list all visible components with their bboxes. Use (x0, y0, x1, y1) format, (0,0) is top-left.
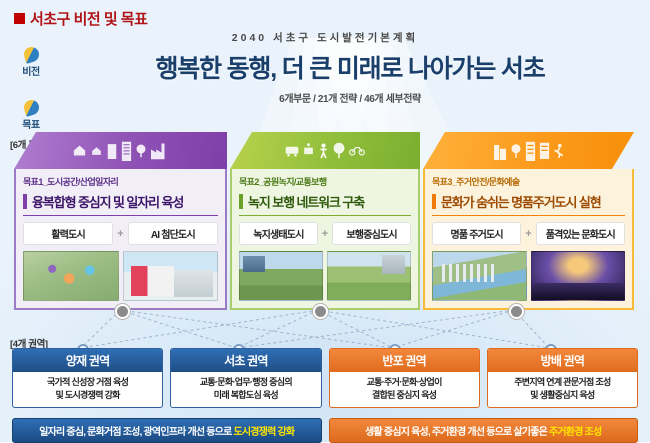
goal-2-connector-node (313, 304, 328, 319)
riverside-apartments-photo (432, 251, 527, 301)
goal-1-body: 목표1_도시공간/산업일자리 융복합형 중심지 및 일자리 육성 활력도시 + … (14, 169, 227, 310)
goal-1-headline: 융복합형 중심지 및 일자리 육성 (32, 192, 183, 211)
goal-3-headline-row: 문화가 숨쉬는 명품주거도시 실현 (432, 192, 625, 216)
goal-columns: 목표1_도시공간/산업일자리 융복합형 중심지 및 일자리 육성 활력도시 + … (14, 132, 638, 310)
aerial-plan-map-photo (23, 251, 119, 301)
factory-icon (150, 142, 170, 160)
footer-bars: 일자리 중심, 문화거점 조성, 광역인프라 개선 등으로 도시경쟁력 강화 생… (12, 418, 638, 443)
goal-column-1[interactable]: 목표1_도시공간/산업일자리 융복합형 중심지 및 일자리 육성 활력도시 + … (14, 132, 227, 310)
plus-icon: + (322, 228, 328, 240)
goal-3-category: 목표3_주거안전/문화예술 (432, 175, 625, 188)
zone-3-name: 반포 권역 (330, 349, 479, 372)
goal-badge-label: 목표 (22, 116, 39, 131)
pedestrian-icon (318, 143, 329, 159)
goal-3-body: 목표3_주거안전/문화예술 문화가 숨쉬는 명품주거도시 실현 명품 주거도시 … (423, 169, 634, 310)
footer-2-text: 생활 중심지 육성, 주거환경 개선 등으로 살기좋은 (365, 427, 549, 438)
goal-2-icon-band (230, 132, 420, 169)
goal-2-photos (239, 251, 411, 301)
goal-2-tag-2[interactable]: 보행중심도시 (332, 222, 411, 245)
vision-badge: 비전 (8, 47, 54, 78)
plan-subtitle: 2040 서초구 도시발전기본계획 (0, 30, 650, 45)
plus-icon: + (117, 228, 123, 240)
zone-1-line-2: 및 도시경쟁력 강화 (16, 389, 159, 402)
running-person-icon (553, 143, 565, 159)
goal-2-tags: 녹지생태도시 + 보행중심도시 (239, 222, 411, 245)
goal-2-tag-1[interactable]: 녹지생태도시 (239, 222, 318, 245)
footer-bar-competitiveness: 일자리 중심, 문화거점 조성, 광역인프라 개선 등으로 도시경쟁력 강화 (12, 418, 322, 443)
zone-1-name: 양재 권역 (13, 349, 162, 372)
zone-2-name: 서초 권역 (171, 349, 320, 372)
zone-4-line-2: 및 생활중심지 육성 (491, 389, 634, 402)
building-icon (493, 142, 507, 160)
zone-1-description: 국가적 신성장 거점 육성 및 도시경쟁력 강화 (13, 372, 162, 407)
zone-card-banpo[interactable]: 반포 권역 교통·주거·문화·상업이 결합된 중심지 육성 (329, 348, 480, 408)
tram-icon (302, 143, 315, 158)
goal-3-tag-1[interactable]: 명품 주거도시 (432, 222, 521, 245)
zone-card-seocho[interactable]: 서초 권역 교통·문화·업무·행정 중심의 미래 복합도심 육성 (170, 348, 321, 408)
vision-badge-label: 비전 (22, 63, 39, 78)
plus-icon: + (525, 228, 531, 240)
goal-1-photos (23, 251, 218, 301)
goal-3-tag-2[interactable]: 품격있는 문화도시 (536, 222, 625, 245)
zone-2-line-1: 교통·문화·업무·행정 중심의 (174, 376, 317, 389)
zone-4-name: 방배 권역 (488, 349, 637, 372)
tree-icon (332, 142, 346, 159)
zone-card-yangjae[interactable]: 양재 권역 국가적 신성장 거점 육성 및 도시경쟁력 강화 (12, 348, 163, 408)
house-icon (90, 144, 103, 157)
zone-2-line-2: 미래 복합도심 육성 (174, 389, 317, 402)
footer-1-highlight: 도시경쟁력 강화 (233, 427, 294, 438)
goal-2-headline-row: 녹지 보행 네트워크 구축 (239, 192, 411, 216)
zone-3-description: 교통·주거·문화·상업이 결합된 중심지 육성 (330, 372, 479, 407)
goal-2-body: 목표2_공원녹지/교통보행 녹지 보행 네트워크 구축 녹지생태도시 + 보행중… (230, 169, 420, 310)
urban-green-park-photo (239, 251, 323, 301)
apartment-icon (525, 141, 536, 161)
house-icon (72, 143, 87, 158)
goal-1-connector-node (115, 304, 130, 319)
vision-statement: 행복한 동행, 더 큰 미래로 나아가는 서초 (60, 56, 640, 84)
goal-2-headline: 녹지 보행 네트워크 구축 (248, 192, 364, 211)
zone-cards: 양재 권역 국가적 신성장 거점 육성 및 도시경쟁력 강화 서초 권역 교통·… (12, 348, 638, 408)
header-square-bullet-icon (14, 13, 25, 24)
outdoor-concert-photo (531, 251, 626, 301)
bus-icon (285, 145, 299, 157)
building-icon (106, 142, 118, 159)
goal-column-3[interactable]: 목표3_주거안전/문화예술 문화가 숨쉬는 명품주거도시 실현 명품 주거도시 … (423, 132, 634, 310)
zone-3-line-2: 결합된 중심지 육성 (333, 389, 476, 402)
goal-column-2[interactable]: 목표2_공원녹지/교통보행 녹지 보행 네트워크 구축 녹지생태도시 + 보행중… (230, 132, 420, 310)
goal-3-icon-band (423, 132, 634, 169)
goal-badge: 목표 (8, 100, 54, 131)
bicycle-icon (349, 145, 365, 156)
zone-card-bangbae[interactable]: 방배 권역 주변지역 연계 관문거점 조성 및 생활중심지 육성 (487, 348, 638, 408)
goal-1-headline-row: 융복합형 중심지 및 일자리 육성 (23, 192, 218, 216)
goal-1-tags: 활력도시 + AI 첨단도시 (23, 222, 218, 245)
goal-3-tags: 명품 주거도시 + 품격있는 문화도시 (432, 222, 625, 245)
vision-block: 행복한 동행, 더 큰 미래로 나아가는 서초 6개부문 / 21개 전략 / … (60, 56, 640, 105)
infographic-page: 서초구 비전 및 목표 2040 서초구 도시발전기본계획 비전 목표 행복한 … (0, 0, 650, 442)
goal-3-photos (432, 251, 625, 301)
zone-4-description: 주변지역 연계 관문거점 조성 및 생활중심지 육성 (488, 372, 637, 407)
vision-subtitle: 6개부문 / 21개 전략 / 46개 세부전략 (60, 90, 640, 105)
tree-icon (135, 143, 147, 158)
apartment-icon (121, 141, 132, 161)
page-header: 서초구 비전 및 목표 (14, 8, 147, 29)
zone-4-line-1: 주변지역 연계 관문거점 조성 (491, 376, 634, 389)
footer-1-text: 일자리 중심, 문화거점 조성, 광역인프라 개선 등으로 (39, 427, 233, 438)
goal-1-tag-2[interactable]: AI 첨단도시 (128, 222, 218, 245)
zone-1-line-1: 국가적 신성장 거점 육성 (16, 376, 159, 389)
pedestrian-street-photo (327, 251, 411, 301)
goal-2-category: 목표2_공원녹지/교통보행 (239, 175, 411, 188)
zone-3-line-1: 교통·주거·문화·상업이 (333, 376, 476, 389)
goal-3-connector-node (509, 304, 524, 319)
goal-1-tag-1[interactable]: 활력도시 (23, 222, 113, 245)
goal-3-headline: 문화가 숨쉬는 명품주거도시 실현 (441, 192, 601, 211)
page-title: 서초구 비전 및 목표 (30, 8, 147, 29)
accent-bar (432, 194, 436, 209)
modern-office-building-photo (123, 251, 219, 301)
footer-bar-living-environment: 생활 중심지 육성, 주거환경 개선 등으로 살기좋은 주거환경 조성 (329, 418, 639, 443)
goal-1-icon-band (14, 132, 227, 169)
goal-1-category: 목표1_도시공간/산업일자리 (23, 175, 218, 188)
zone-2-description: 교통·문화·업무·행정 중심의 미래 복합도심 육성 (171, 372, 320, 407)
apartment-icon (539, 142, 550, 159)
accent-bar (239, 194, 243, 209)
footer-2-highlight: 주거환경 조성 (549, 427, 601, 438)
droplet-icon (22, 45, 41, 64)
tree-icon (510, 143, 522, 159)
accent-bar (23, 194, 27, 209)
droplet-icon (22, 98, 41, 117)
